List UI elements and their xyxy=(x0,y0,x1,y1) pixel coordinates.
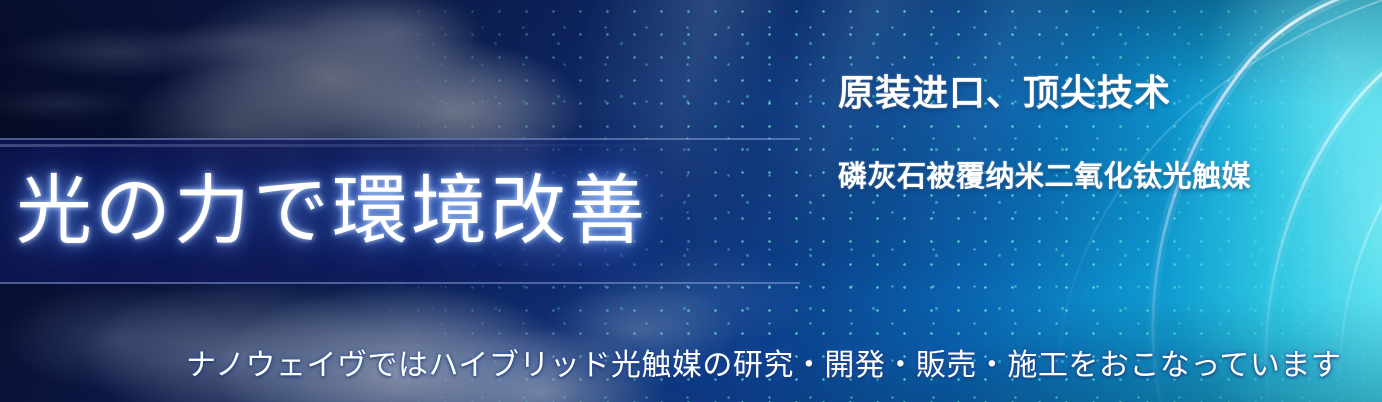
page-title: 光の力で環境改善 xyxy=(16,163,648,259)
promo-subheading: 磷灰石被覆纳米二氧化钛光触媒 xyxy=(838,157,1251,195)
promo-heading: 原装进口、顶尖技术 xyxy=(838,72,1171,116)
hero-banner: 光の力で環境改善 原装进口、顶尖技术 磷灰石被覆纳米二氧化钛光触媒 ナノウェイヴ… xyxy=(0,0,1382,402)
company-tagline: ナノウェイヴではハイブリッド光触媒の研究・開発・販売・施工をおこなっています xyxy=(186,346,1341,386)
